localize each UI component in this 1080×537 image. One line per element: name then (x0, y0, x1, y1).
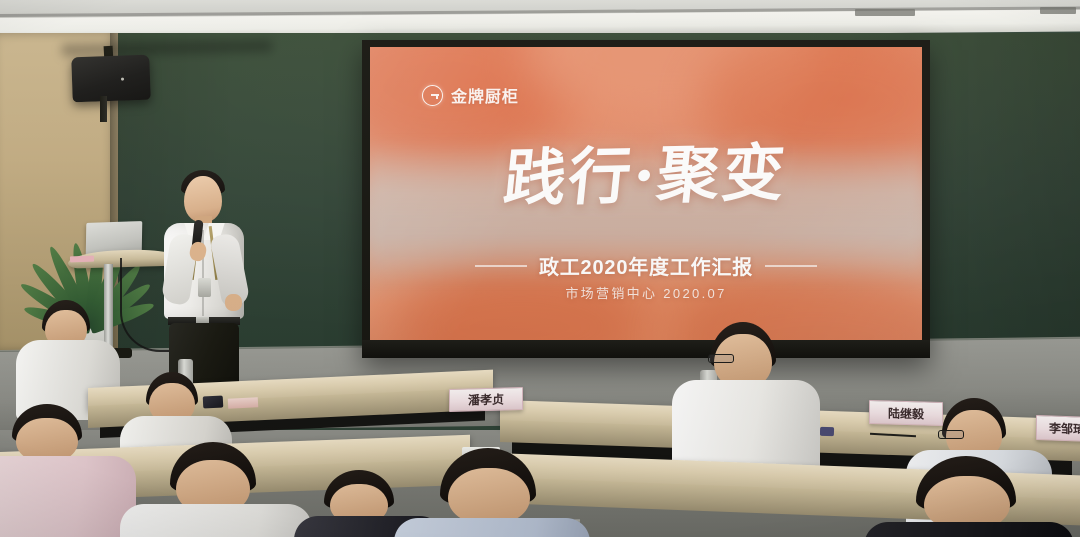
speaker-led-icon (121, 78, 124, 81)
audience-body (120, 504, 312, 537)
presentation-room-photo: 金牌厨柜 践行·聚变 政工2020年度工作汇报 市场营销中心 2020.07 (0, 0, 1080, 537)
circled-g-logo-icon (422, 85, 443, 106)
slide-subtitle-row: 政工2020年度工作汇报 (370, 251, 922, 280)
audience-body (864, 522, 1074, 537)
screen-bottom-bar (362, 340, 930, 358)
presenter-badge (198, 278, 211, 297)
projector-screen: 金牌厨柜 践行·聚变 政工2020年度工作汇报 市场营销中心 2020.07 (362, 40, 930, 358)
presenter-hand-right (225, 294, 242, 311)
audience-member-foreground (130, 442, 300, 537)
audience-member-foreground (400, 448, 580, 537)
speaker-support-arm (100, 96, 107, 122)
papers-icon (228, 397, 258, 409)
smartphone-icon-2 (820, 427, 834, 436)
audience-body (394, 518, 590, 537)
podium-papers (70, 256, 94, 263)
audience-body (0, 456, 136, 537)
ceiling-vent-2 (1040, 7, 1076, 14)
name-placard: 潘孝贞 (449, 387, 523, 412)
slide-brand-logo: 金牌厨柜 (422, 83, 519, 107)
eyeglasses-icon (708, 354, 734, 363)
eyeglasses-icon (938, 430, 964, 439)
audience-member-center (676, 322, 816, 482)
slide-main-title: 践行·聚变 (370, 119, 922, 221)
slide-brand-name: 金牌厨柜 (451, 83, 519, 107)
ceiling-vent (855, 9, 915, 16)
slide-meta-line: 市场营销中心 2020.07 (370, 283, 922, 302)
subtitle-rule-left (475, 265, 527, 267)
subtitle-rule-right (765, 265, 817, 267)
audience-head (448, 468, 530, 524)
audience-member-foreground (872, 456, 1062, 537)
audience-member-foreground (0, 404, 126, 537)
ceiling-speaker-icon (71, 55, 151, 103)
screen-surface: 金牌厨柜 践行·聚变 政工2020年度工作汇报 市场营销中心 2020.07 (370, 47, 922, 340)
slide-subtitle: 政工2020年度工作汇报 (539, 251, 753, 280)
presenter-figure (150, 168, 260, 384)
